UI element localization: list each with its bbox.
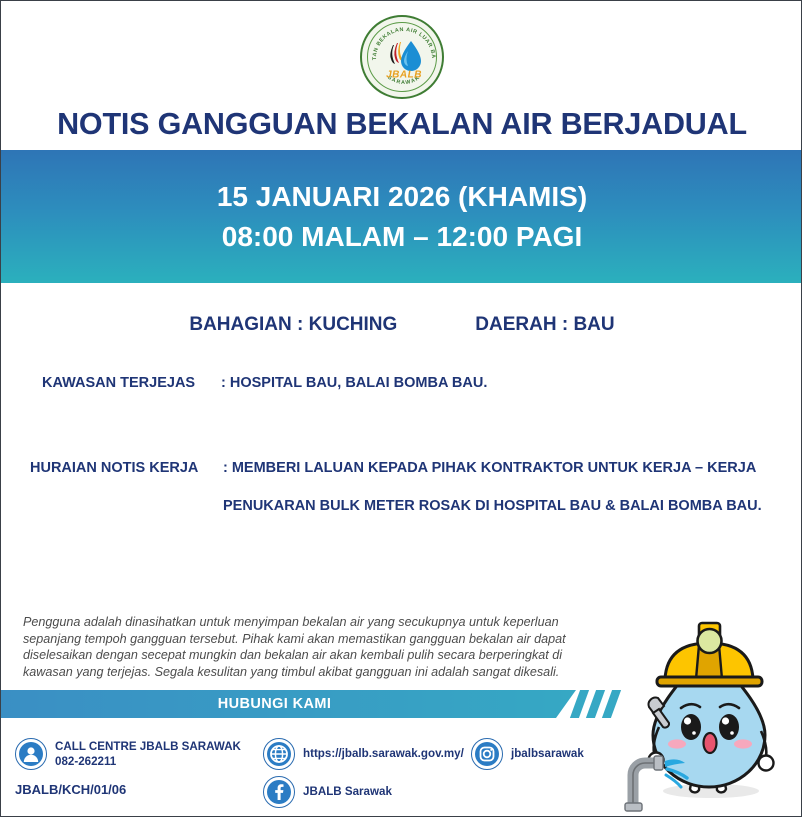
website-url: https://jbalb.sarawak.gov.my/ [303, 746, 464, 761]
division-district-row: BAHAGIAN : KUCHING DAERAH : BAU [1, 314, 802, 336]
page-title: NOTIS GANGGUAN BEKALAN AIR BERJADUAL [1, 107, 802, 142]
jbalb-logo: JABATAN BEKALAN AIR LUAR BANDAR SARAWAK … [360, 15, 444, 99]
user-icon [15, 738, 47, 770]
work-description-label: HURAIAN NOTIS KERJA [30, 457, 223, 518]
affected-area-field: KAWASAN TERJEJAS : HOSPITAL BAU, BALAI B… [42, 372, 487, 394]
contacts-group: CALL CENTRE JBALB SARAWAK 082-262211 htt… [1, 736, 641, 816]
call-centre-text: CALL CENTRE JBALB SARAWAK 082-262211 [55, 739, 241, 769]
work-description-value: : MEMBERI LALUAN KEPADA PIHAK KONTRAKTOR… [223, 457, 762, 518]
affected-area-value: : HOSPITAL BAU, BALAI BOMBA BAU. [221, 372, 487, 394]
facebook-handle: JBALB Sarawak [303, 784, 392, 799]
banner-date: 15 JANUARI 2026 (KHAMIS) [217, 177, 587, 217]
contact-instagram[interactable]: jbalbsarawak [471, 738, 584, 770]
division-label: BAHAGIAN : KUCHING [189, 314, 397, 336]
globe-icon [263, 738, 295, 770]
banner-time: 08:00 MALAM – 12:00 PAGI [222, 217, 583, 257]
district-label: DAERAH : BAU [475, 314, 614, 336]
reference-number: JBALB/KCH/01/06 [15, 782, 126, 797]
work-description-line1: : MEMBERI LALUAN KEPADA PIHAK KONTRAKTOR… [223, 460, 756, 476]
affected-area-label: KAWASAN TERJEJAS [42, 372, 221, 394]
disclaimer-text: Pengguna adalah dinasihatkan untuk menyi… [23, 614, 601, 681]
work-description-field: HURAIAN NOTIS KERJA : MEMBERI LALUAN KEP… [30, 457, 762, 518]
instagram-handle: jbalbsarawak [511, 746, 584, 761]
call-centre-name: CALL CENTRE JBALB SARAWAK [55, 739, 241, 754]
facebook-icon [263, 776, 295, 808]
water-droplet-mascot [619, 605, 799, 815]
date-time-banner: 15 JANUARI 2026 (KHAMIS) 08:00 MALAM – 1… [1, 150, 802, 283]
call-centre-phone: 082-262211 [55, 754, 241, 769]
contact-facebook[interactable]: JBALB Sarawak [263, 776, 392, 808]
contact-bar: HUBUNGI KAMI [1, 690, 576, 718]
work-description-line2: PENUKARAN BULK METER ROSAK DI HOSPITAL B… [223, 495, 762, 517]
contact-call-centre[interactable]: CALL CENTRE JBALB SARAWAK 082-262211 [15, 738, 241, 770]
contact-bar-heading: HUBUNGI KAMI [218, 696, 360, 712]
instagram-icon [471, 738, 503, 770]
contact-website[interactable]: https://jbalb.sarawak.gov.my/ [263, 738, 464, 770]
svg-text:JBALB: JBALB [386, 70, 422, 81]
logo-container: JABATAN BEKALAN AIR LUAR BANDAR SARAWAK … [1, 15, 802, 99]
notice-page: JABATAN BEKALAN AIR LUAR BANDAR SARAWAK … [0, 0, 802, 817]
